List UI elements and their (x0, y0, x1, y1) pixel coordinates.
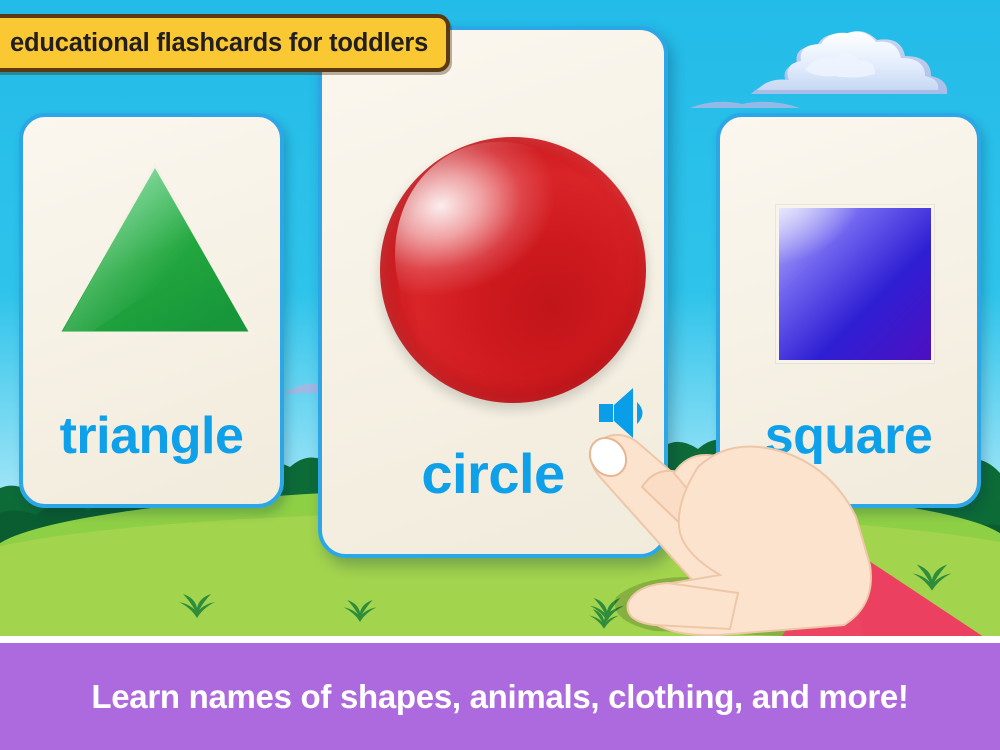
bottom-tagline-banner: Learn names of shapes, animals, clothing… (0, 643, 1000, 750)
top-title-text: educational flashcards for toddlers (10, 29, 428, 58)
triangle-shape-icon (55, 159, 255, 339)
bottom-tagline-text: Learn names of shapes, animals, clothing… (91, 678, 908, 716)
cloud-icon (735, 22, 965, 102)
circle-shape-icon (380, 137, 646, 403)
flashcard-triangle[interactable]: triangle (19, 113, 284, 508)
banner-divider (0, 636, 1000, 643)
app-screenshot: educational flashcards for toddlers (0, 0, 1000, 750)
top-title-banner: educational flashcards for toddlers (0, 14, 450, 72)
square-shape-icon (776, 205, 934, 363)
card-label-triangle: triangle (23, 406, 280, 466)
grass-tuft-icon (340, 598, 380, 627)
cloud-wisp-icon (690, 96, 800, 112)
grass-tuft-icon (175, 592, 219, 623)
pointing-hand-icon (570, 425, 1000, 660)
